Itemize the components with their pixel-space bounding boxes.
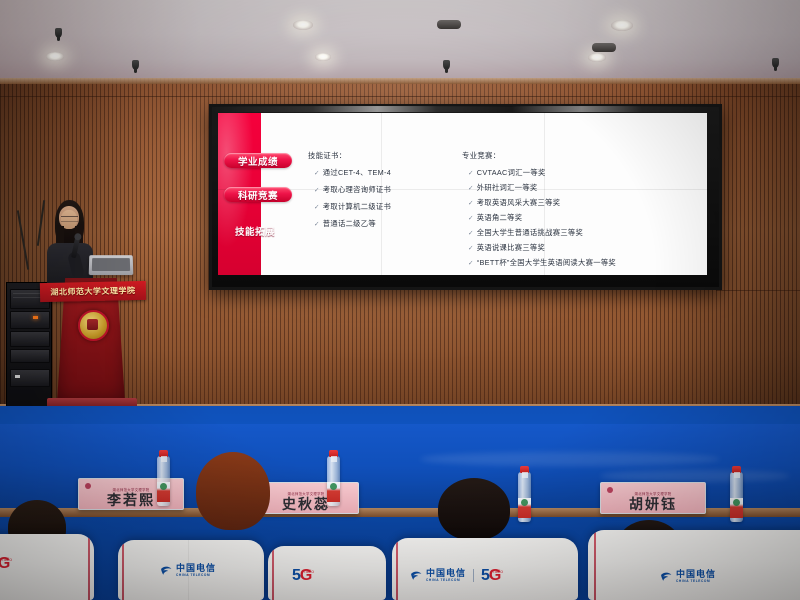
chair-telecom-logo: 中国电信 CHINA TELECOM [660,570,716,583]
telecom-name-cn: 中国电信 [176,564,216,573]
placard-name: 胡妍钰 [629,497,677,512]
slide-right-item: ✓英语说课比赛三等奖 [468,243,545,253]
slide-right-item-text: CVTAAC词汇一等奖 [477,168,546,177]
fiveg-tagline: hello [2,557,12,562]
ceiling-downlight [293,20,313,30]
check-icon: ✓ [468,185,474,192]
fiveg-tagline: hello [493,569,503,574]
ceiling-downlight [611,20,633,31]
rack-unit [10,331,50,347]
slide-right-item: ✓CVTAAC词汇一等奖 [468,168,546,178]
china-telecom-swoosh-icon [660,570,673,583]
check-icon: ✓ [468,170,474,177]
telecom-name-en: CHINA TELECOM [676,579,716,583]
rack-unit [10,369,50,387]
wall-joint [0,96,800,97]
ceiling-fixture [437,20,461,29]
screenshot-root: 学业成绩 科研竞赛 技能拓展 技能证书： ✓通过CET-4、TEM-4 ✓考取心… [0,0,800,600]
presentation-slide: 学业成绩 科研竞赛 技能拓展 技能证书： ✓通过CET-4、TEM-4 ✓考取心… [218,113,707,275]
slide-right-item: ✓外研社词汇一等奖 [468,183,538,193]
slide-right-item-text: 英语角二等奖 [477,213,523,222]
slide-tab-label: 技能拓展 [235,224,275,238]
water-bottle [157,456,170,506]
audience-chair: 中国电信 CHINA TELECOM 5 G hello [392,538,578,600]
slide-left-item: ✓考取心理咨询师证书 [314,185,391,195]
audience-head [196,452,270,530]
slide-left-item: ✓普通话二级乙等 [314,219,376,229]
audience-chair: 5 G hello [268,546,386,600]
slide-left-item-text: 普通话二级乙等 [323,219,376,228]
slide-tab-label: 学业成绩 [238,154,278,168]
check-icon: ✓ [468,230,474,237]
slide-right-item: ✓英语角二等奖 [468,213,522,223]
fiveg-logo-icon: 5 G hello [292,568,314,583]
ceiling-downlight [315,53,331,61]
placard-name: 史秋蕊 [282,497,330,512]
audience-chair: 5 G hello [0,534,94,600]
check-icon: ✓ [314,187,320,194]
ceiling [0,0,800,84]
bottle-label [157,482,170,502]
glasses-icon [61,216,78,222]
fiveg-number: 5 [481,568,489,583]
slide-right-item: ✓“BETT杯”全国大学生英语阅读大赛一等奖 [468,258,616,268]
slide-tab-academic: 学业成绩 [224,153,292,168]
slide-right-heading: 专业竞赛： [462,151,500,161]
placard-seal-icon [607,487,613,493]
chair-telecom-logo: 中国电信 CHINA TELECOM 5 G hello [410,568,503,583]
check-icon: ✓ [314,204,320,211]
ceiling-downlight [46,52,64,61]
placard-seal-icon [85,483,91,489]
tablecloth-fold [420,452,720,466]
name-placard: 湖北师范大学文理学院 胡妍钰 [600,482,706,514]
slide-left-item-text: 通过CET-4、TEM-4 [323,168,391,177]
podium-banner: 湖北师范大学文理学院 [40,281,146,302]
telecom-name-en: CHINA TELECOM [176,573,216,577]
china-telecom-swoosh-icon [410,569,423,582]
chair-telecom-logo: 中国电信 CHINA TELECOM [160,564,216,577]
audience-chair: 中国电信 CHINA TELECOM [588,530,800,600]
fiveg-logo-icon: 5 G hello [481,568,503,583]
slide-tab-label: 科研竞赛 [238,188,278,202]
slide-right-item: ✓考取英语风采大赛三等奖 [468,198,560,208]
podium-laptop [89,255,134,275]
check-icon: ✓ [468,200,474,207]
sprinkler-head [132,60,139,70]
slide-right-item-text: 考取英语风采大赛三等奖 [477,198,561,207]
water-bottle [730,472,743,522]
screen-glare [213,106,711,112]
bottle-label [730,498,743,518]
video-wall-seam [218,189,707,190]
ceiling-downlight [588,53,606,62]
slide-right-item-text: “BETT杯”全国大学生英语阅读大赛一等奖 [477,258,616,267]
university-crest-icon [78,310,109,341]
slide-left-item-text: 考取计算机二级证书 [323,202,391,211]
china-telecom-swoosh-icon [160,564,173,577]
slide-right-item-text: 全国大学生普通话挑战赛三等奖 [477,228,583,237]
water-bottle [327,456,340,506]
check-icon: ✓ [468,245,474,252]
rack-power-led [33,316,38,319]
check-icon: ✓ [314,170,320,177]
fiveg-number: 5 [292,568,300,583]
check-icon: ✓ [468,260,474,267]
check-icon: ✓ [314,221,320,228]
audience-chair: 中国电信 CHINA TELECOM [118,540,264,600]
slide-left-item: ✓通过CET-4、TEM-4 [314,168,391,178]
sprinkler-head [55,28,62,38]
chair-5g-logo: 5 G hello [292,568,314,583]
slide-tab-skills: 技能拓展 [224,223,286,238]
slide-left-item-text: 考取心理咨询师证书 [323,185,391,194]
rack-power-led [15,375,20,378]
bottle-label [327,482,340,502]
fiveg-logo-icon: 5 G hello [0,556,12,571]
sprinkler-head [772,58,779,68]
telecom-name-en: CHINA TELECOM [426,578,466,582]
water-bottle [518,472,531,522]
fiveg-tagline: hello [304,569,314,574]
audience-head [438,478,510,540]
slide-right-item-text: 外研社词汇一等奖 [477,183,538,192]
placard-name: 李若熙 [107,493,155,508]
slide-left-item: ✓考取计算机二级证书 [314,202,391,212]
wall-cornice [0,78,800,84]
rack-unit [10,311,50,329]
slide-right-item: ✓全国大学生普通话挑战赛三等奖 [468,228,583,238]
check-icon: ✓ [468,215,474,222]
chair-5g-logo: 5 G hello [0,556,12,571]
telecom-name-cn: 中国电信 [426,569,466,578]
logo-divider [473,569,474,582]
podium-banner-text: 湖北师范大学文理学院 [50,285,135,298]
wall-joint [716,290,800,291]
slide-left-heading: 技能证书： [308,151,346,161]
bottle-label [518,498,531,518]
telecom-name-cn: 中国电信 [676,570,716,579]
ceiling-fixture [592,43,616,52]
tablecloth-fold [600,470,790,482]
slide-tab-research: 科研竞赛 [224,187,292,202]
slide-right-item-text: 英语说课比赛三等奖 [477,243,545,252]
sprinkler-head [443,60,450,70]
rack-unit [10,349,50,363]
